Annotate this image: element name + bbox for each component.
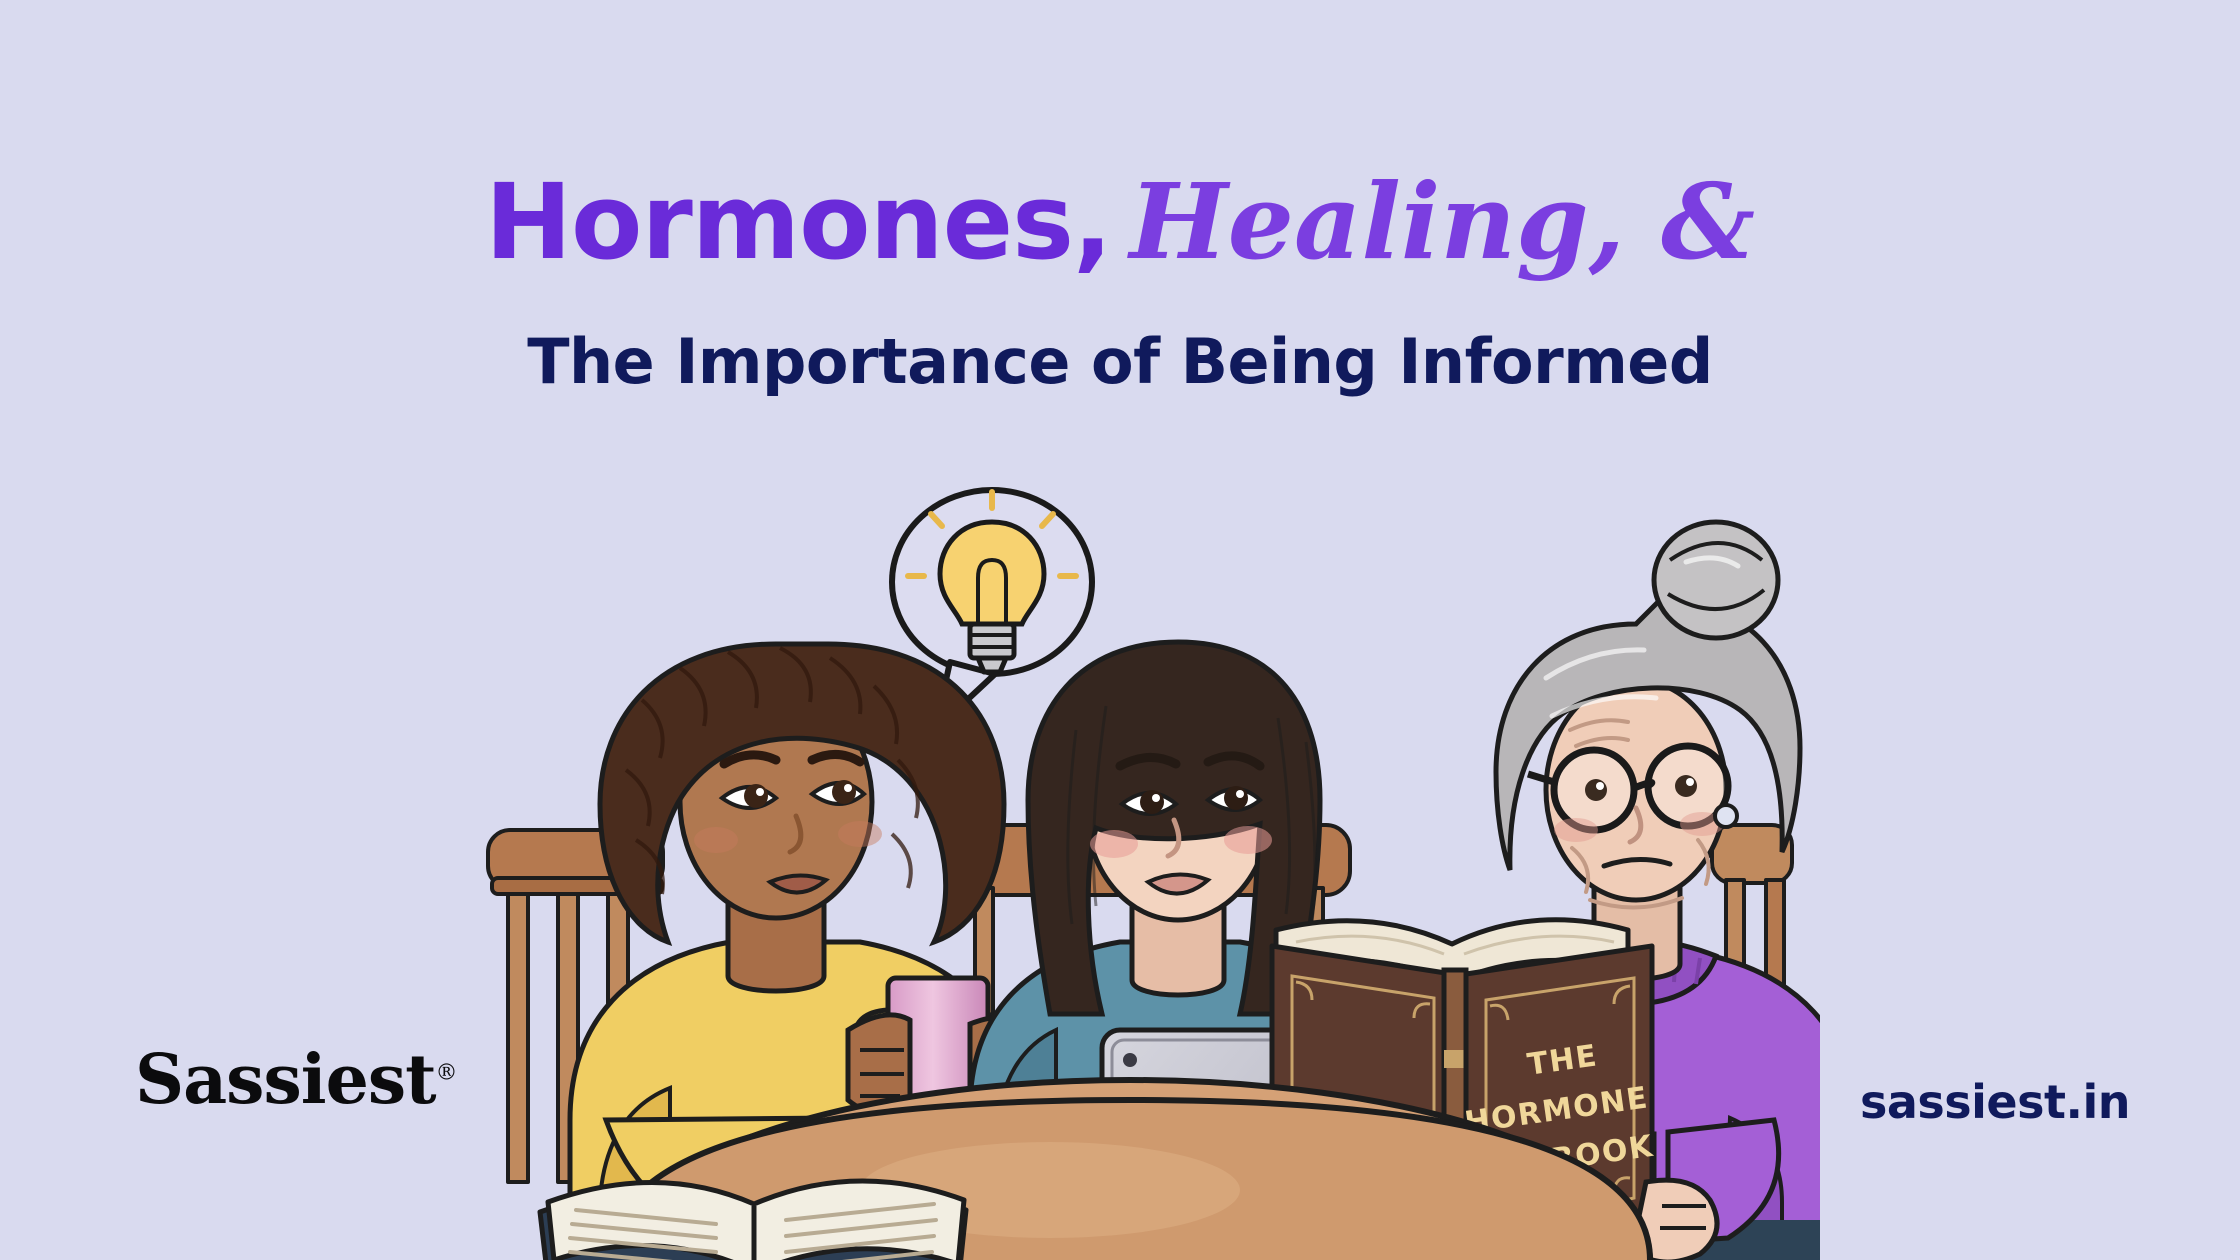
site-url[interactable]: sassiest.in	[1860, 1075, 2130, 1129]
brand-logo[interactable]: Sassiest®	[135, 1040, 458, 1120]
page-title: Hormones,Healing, &	[0, 170, 2240, 274]
promo-banner: Hormones,Healing, & The Importance of Be…	[0, 0, 2240, 1260]
illustration-three-women-at-table: THE HORMONE HANDBOOK	[430, 430, 1820, 1260]
headline-part-script: Healing, &	[1112, 160, 1755, 283]
headline-part-bold: Hormones,	[485, 161, 1112, 283]
registered-mark: ®	[436, 1060, 458, 1085]
page-subtitle: The Importance of Being Informed	[0, 325, 2240, 398]
brand-logo-text: Sassiest	[135, 1040, 436, 1120]
